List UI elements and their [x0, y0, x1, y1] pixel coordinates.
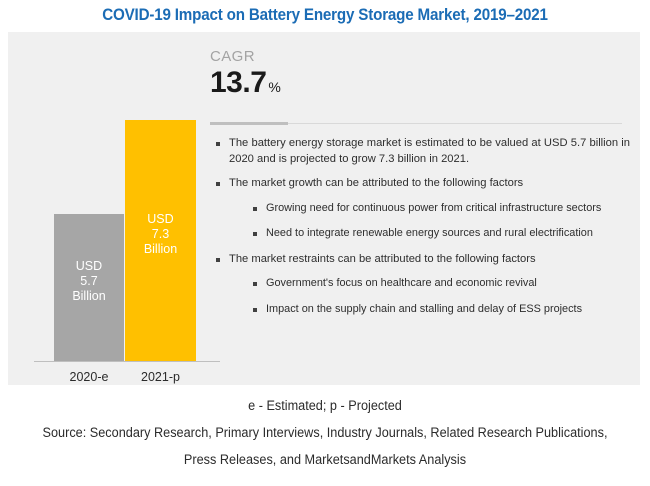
bar-2020-e-amount: 5.7: [72, 274, 105, 289]
bar-2021-p[interactable]: USD 7.3 Billion: [125, 120, 196, 361]
list-item-text: The battery energy storage market is est…: [229, 136, 630, 167]
insights-list: The battery energy storage market is est…: [216, 136, 630, 327]
bar-2020-e[interactable]: USD 5.7 Billion: [54, 214, 124, 361]
square-bullet-icon: [216, 258, 220, 262]
footer-source-line-2: Press Releases, and MarketsandMarkets An…: [20, 446, 631, 473]
bar-2021-p-label: USD 7.3 Billion: [144, 212, 177, 257]
square-bullet-icon: [253, 232, 257, 236]
square-bullet-icon: [216, 142, 220, 146]
content-panel: CAGR 13.7 % USD 5.7 Billion USD 7.3 Bill…: [8, 32, 640, 385]
bar-2020-e-label: USD 5.7 Billion: [72, 259, 105, 304]
list-item: The market restraints can be attributed …: [216, 252, 630, 268]
square-bullet-icon: [253, 282, 257, 286]
list-item-text: Impact on the supply chain and stalling …: [266, 302, 630, 318]
list-item: Growing need for continuous power from c…: [216, 201, 630, 217]
list-item-text: Growing need for continuous power from c…: [266, 201, 630, 217]
list-item-text: The market restraints can be attributed …: [229, 252, 630, 268]
page-title: COVID-19 Impact on Battery Energy Storag…: [26, 6, 624, 25]
bar-2021-p-unit: Billion: [144, 242, 177, 257]
bar-2021-p-currency: USD: [144, 212, 177, 227]
list-item: The market growth can be attributed to t…: [216, 176, 630, 192]
list-item-text: Need to integrate renewable energy sourc…: [266, 226, 630, 242]
bar-2020-e-unit: Billion: [72, 289, 105, 304]
list-item: Government's focus on healthcare and eco…: [216, 276, 630, 292]
cagr-unit: %: [268, 79, 280, 95]
x-tick-2021-p: 2021-p: [125, 370, 196, 384]
footer-legend: e - Estimated; p - Projected: [20, 392, 631, 419]
list-item: Impact on the supply chain and stalling …: [216, 302, 630, 318]
separator-rule: [210, 123, 622, 124]
x-axis-line: [34, 361, 220, 362]
bar-2020-e-currency: USD: [72, 259, 105, 274]
square-bullet-icon: [216, 182, 220, 186]
bar-chart: USD 5.7 Billion USD 7.3 Billion 2020-e 2…: [18, 64, 228, 394]
list-item: Need to integrate renewable energy sourc…: [216, 226, 630, 242]
bar-2021-p-amount: 7.3: [144, 227, 177, 242]
square-bullet-icon: [253, 207, 257, 211]
footer: e - Estimated; p - Projected Source: Sec…: [0, 392, 650, 473]
list-item-text: Government's focus on healthcare and eco…: [266, 276, 630, 292]
footer-source-line-1: Source: Secondary Research, Primary Inte…: [20, 419, 631, 446]
list-item-text: The market growth can be attributed to t…: [229, 176, 630, 192]
x-tick-2020-e: 2020-e: [54, 370, 124, 384]
square-bullet-icon: [253, 308, 257, 312]
list-item: The battery energy storage market is est…: [216, 136, 630, 167]
